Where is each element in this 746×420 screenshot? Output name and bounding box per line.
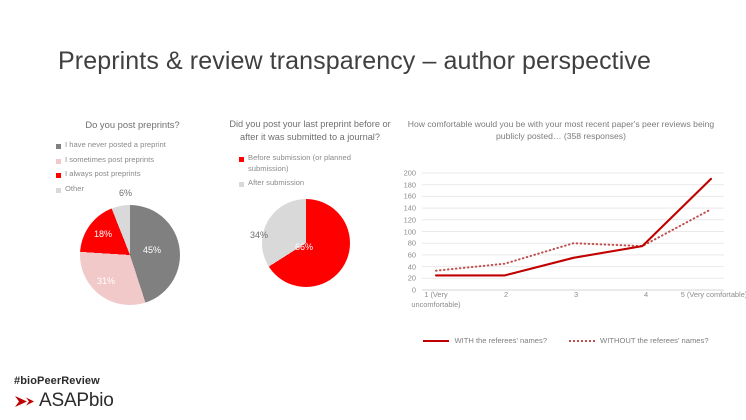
legend-label: WITHOUT the referees' names?	[600, 336, 709, 345]
brand-name: ASAPbio	[39, 390, 114, 412]
chart2-title: Did you post your last preprint before o…	[225, 118, 395, 143]
chart-preprint-before-or-after: Did you post your last preprint before o…	[225, 118, 395, 318]
pie1-label-sometimes: 31%	[97, 276, 115, 286]
footer: #bioPeerReview ASAPbio	[14, 375, 114, 412]
legend-label: After submission	[248, 178, 304, 189]
x-tick-label: 2	[471, 290, 541, 300]
chart2-legend: Before submission (or planned submission…	[239, 153, 395, 189]
chart1-plot-area: 45% 31% 18% 6%	[40, 200, 225, 318]
legend-label: I have never posted a preprint	[65, 140, 166, 151]
legend-item: I have never posted a preprint	[56, 140, 225, 151]
x-tick-label: 4	[611, 290, 681, 300]
chart1-title: Do you post preprints?	[40, 118, 225, 131]
chart3-plot-area: 200 180 160 140 120 100 80 60 40 20 0	[396, 168, 726, 348]
pie2-label-after: 34%	[250, 230, 268, 240]
dotted-line-icon	[569, 340, 595, 342]
chart3-title: How comfortable would you be with your m…	[401, 118, 721, 142]
red-arrow-logo-icon	[14, 393, 36, 410]
slide: Preprints & review transparency – author…	[0, 0, 746, 420]
x-tick-label: 1 (Very uncomfortable)	[401, 290, 471, 310]
pie1-label-other: 6%	[119, 188, 132, 198]
legend-swatch-other-icon	[56, 188, 61, 193]
legend-swatch-before-icon	[239, 157, 244, 162]
pie-chart-1	[80, 205, 180, 305]
legend-label: I always post preprints	[65, 169, 141, 180]
pie1-label-always: 18%	[94, 229, 112, 239]
chart3-legend: WITH the referees' names? WITHOUT the re…	[406, 336, 726, 345]
brand-lockup: ASAPbio	[14, 390, 114, 412]
chart2-plot-area: 66% 34%	[225, 197, 395, 307]
chart-comfort-with-public-reviews: How comfortable would you be with your m…	[396, 118, 726, 368]
x-tick-label: 3	[541, 290, 611, 300]
pie2-label-before: 66%	[295, 242, 313, 252]
pie1-label-never: 45%	[143, 245, 161, 255]
legend-item: Before submission (or planned submission…	[239, 153, 395, 174]
legend-swatch-after-icon	[239, 182, 244, 187]
legend-label: I sometimes post preprints	[65, 155, 154, 166]
legend-label: Other	[65, 184, 84, 195]
series-with-referees-names	[436, 179, 711, 276]
legend-label: WITH the referees' names?	[454, 336, 547, 345]
legend-swatch-always-icon	[56, 173, 61, 178]
legend-item-without-names: WITHOUT the referees' names?	[569, 336, 709, 345]
legend-swatch-sometimes-icon	[56, 159, 61, 164]
legend-label: Before submission (or planned submission…	[248, 153, 378, 174]
legend-item: Other	[56, 184, 225, 195]
page-title: Preprints & review transparency – author…	[58, 47, 651, 76]
legend-swatch-never-icon	[56, 144, 61, 149]
legend-item: I always post preprints	[56, 169, 225, 180]
hashtag-text: #bioPeerReview	[14, 375, 114, 387]
chart1-legend: I have never posted a preprint I sometim…	[56, 140, 225, 194]
x-tick-label: 5 (Very comfortable)	[679, 290, 746, 300]
legend-item: After submission	[239, 178, 395, 189]
chart-do-you-post-preprints: Do you post preprints? I have never post…	[40, 118, 225, 318]
legend-item: I sometimes post preprints	[56, 155, 225, 166]
solid-line-icon	[423, 340, 449, 342]
legend-item-with-names: WITH the referees' names?	[423, 336, 547, 345]
line-chart-svg	[396, 168, 726, 348]
gridlines	[422, 173, 724, 290]
